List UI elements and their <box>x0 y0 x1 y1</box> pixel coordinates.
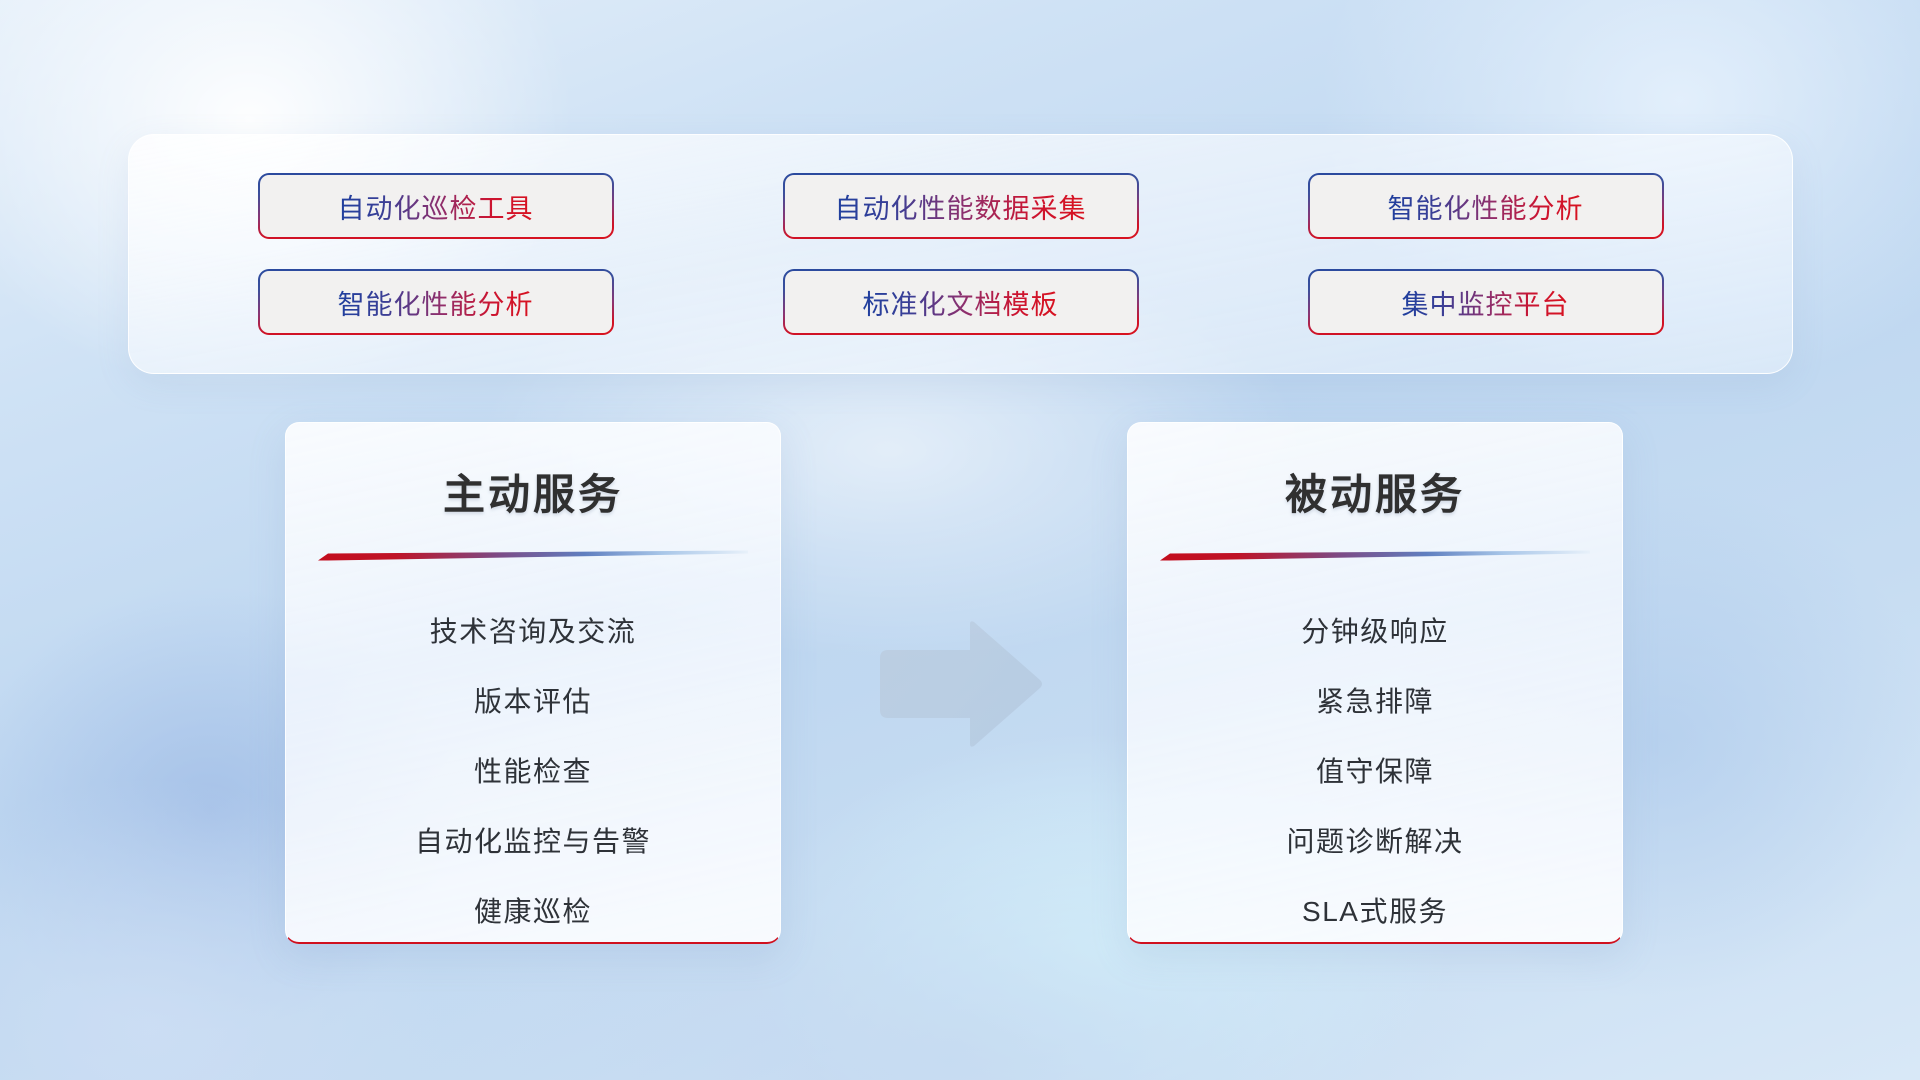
tools-column-2: 自动化性能数据采集 标准化文档模板 <box>783 173 1139 335</box>
list-item: 技术咨询及交流 <box>430 597 637 667</box>
service-item-list: 技术咨询及交流 版本评估 性能检查 自动化监控与告警 健康巡检 <box>286 597 780 944</box>
tools-column-3: 智能化性能分析 集中监控平台 <box>1308 173 1664 335</box>
list-item: SLA式服务 <box>1302 877 1448 944</box>
arrow-right-icon <box>874 620 1044 748</box>
list-item: 分钟级响应 <box>1301 597 1449 667</box>
card-title: 主动服务 <box>443 461 623 522</box>
service-item-list: 分钟级响应 紧急排障 值守保障 问题诊断解决 SLA式服务 <box>1128 597 1622 944</box>
tool-chip-automated-inspection[interactable]: 自动化巡检工具 <box>258 173 614 239</box>
list-item: 值守保障 <box>1316 737 1434 807</box>
list-item: 紧急排障 <box>1316 667 1434 737</box>
card-proactive-service: 主动服务 技术咨询及交流 版本评估 性能检查 <box>285 422 781 944</box>
tool-chip-standardized-document-template[interactable]: 标准化文档模板 <box>783 269 1139 335</box>
list-item: 性能检查 <box>474 737 592 807</box>
tool-chip-centralized-monitoring-platform[interactable]: 集中监控平台 <box>1308 269 1664 335</box>
tool-chip-label: 智能化性能分析 <box>1388 187 1584 226</box>
tool-chip-intelligent-performance-analysis-2[interactable]: 智能化性能分析 <box>1308 173 1664 239</box>
list-item: 版本评估 <box>474 667 592 737</box>
tool-chip-automated-performance-data-collection[interactable]: 自动化性能数据采集 <box>783 173 1139 239</box>
tools-panel: 自动化巡检工具 智能化性能分析 自动化性能数据采集 标准化文档模板 智能化性能分… <box>128 134 1793 374</box>
slide-canvas: 自动化巡检工具 智能化性能分析 自动化性能数据采集 标准化文档模板 智能化性能分… <box>0 0 1920 1080</box>
list-item: 问题诊断解决 <box>1286 807 1463 877</box>
tool-chip-label: 自动化巡检工具 <box>338 187 534 226</box>
tool-chip-label: 集中监控平台 <box>1402 283 1570 322</box>
tool-chip-label: 标准化文档模板 <box>863 283 1059 322</box>
list-item: 自动化监控与告警 <box>415 807 651 877</box>
list-item: 健康巡检 <box>474 877 592 944</box>
tool-chip-intelligent-performance-analysis[interactable]: 智能化性能分析 <box>258 269 614 335</box>
card-title: 被动服务 <box>1285 461 1465 522</box>
card-reactive-service: 被动服务 分钟级响应 紧急排障 值守保障 <box>1127 422 1623 944</box>
tool-chip-label: 智能化性能分析 <box>338 283 534 322</box>
tools-column-1: 自动化巡检工具 智能化性能分析 <box>258 173 614 335</box>
title-divider <box>1160 550 1590 561</box>
tool-chip-label: 自动化性能数据采集 <box>835 187 1087 226</box>
title-divider <box>318 550 748 561</box>
